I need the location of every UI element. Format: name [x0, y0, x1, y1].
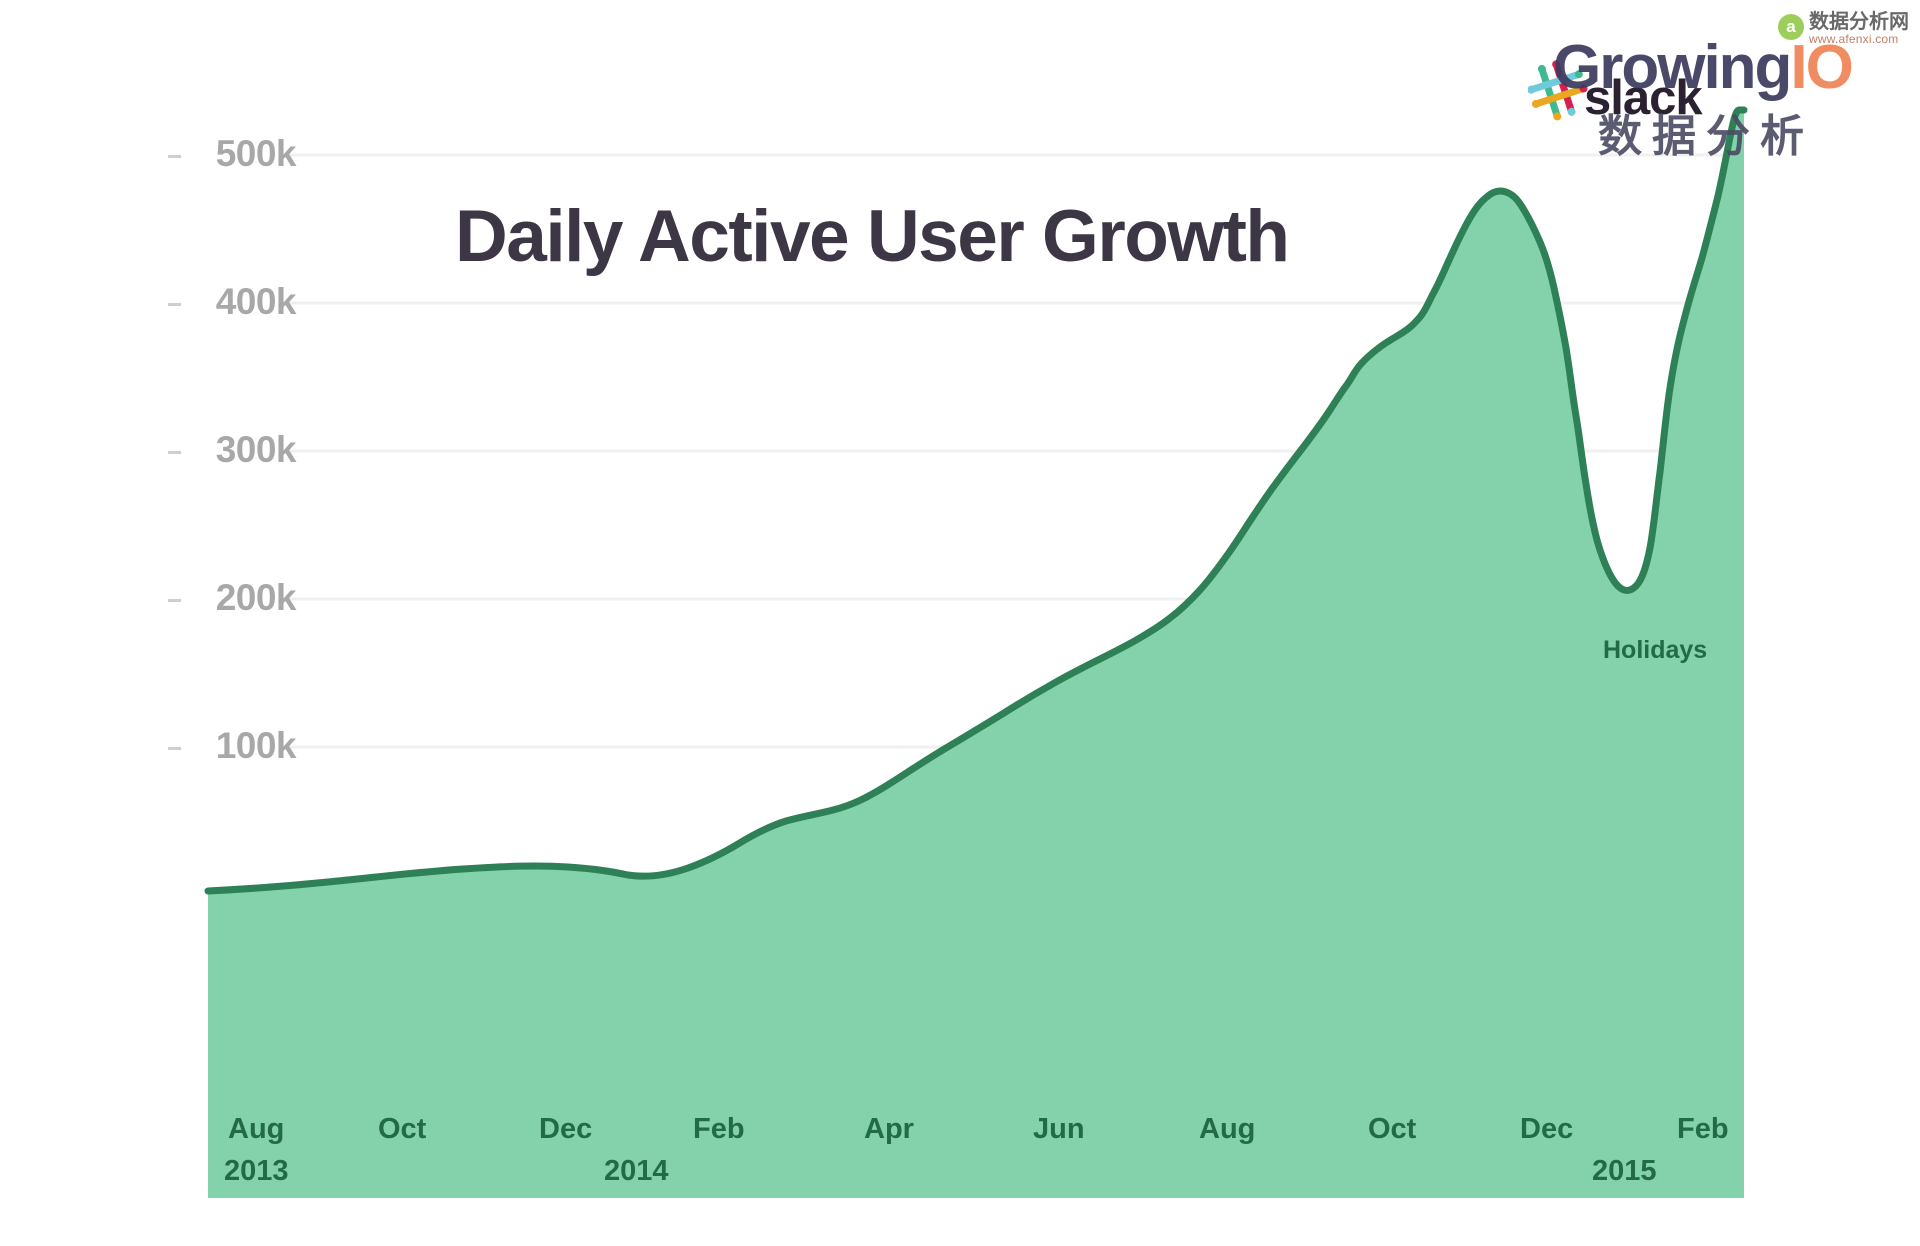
x-axis-label-oct-2014: Oct	[1368, 1113, 1416, 1146]
afenxi-name: 数据分析网	[1809, 12, 1909, 33]
x-axis-label-oct-2013: Oct	[378, 1113, 426, 1146]
x-axis-year-2013: 2013	[224, 1155, 289, 1188]
y-axis-label-200k: 200k	[186, 577, 296, 619]
x-axis-label-feb-2015: Feb	[1677, 1113, 1729, 1146]
chart-canvas: 500k 400k 300k 200k 100k Daily Active Us…	[0, 0, 1920, 1246]
y-tick-dash-100k	[168, 747, 181, 750]
y-axis-label-300k: 300k	[186, 429, 296, 471]
holidays-annotation: Holidays	[1603, 636, 1707, 665]
x-axis-label-jun-2014: Jun	[1033, 1113, 1085, 1146]
growingio-subtitle: 数据分析	[1598, 100, 1814, 164]
afenxi-url: www.afenxi.com	[1809, 33, 1909, 46]
growingio-word-growing: Growing	[1553, 33, 1790, 102]
y-tick-dash-500k	[168, 155, 181, 158]
afenxi-badge: a 数据分析网 www.afenxi.com	[1778, 12, 1909, 46]
y-tick-dash-400k	[168, 303, 181, 306]
y-axis-label-100k: 100k	[186, 725, 296, 767]
x-axis-label-aug-2013: Aug	[228, 1113, 284, 1146]
x-axis-year-2015: 2015	[1592, 1155, 1657, 1188]
afenxi-mark-icon: a	[1778, 14, 1804, 40]
x-axis-label-dec-2014: Dec	[1520, 1113, 1573, 1146]
y-axis-label-500k: 500k	[186, 133, 296, 175]
x-axis-year-2014: 2014	[604, 1155, 669, 1188]
x-axis-label-aug-2014: Aug	[1199, 1113, 1255, 1146]
x-axis-label-apr-2014: Apr	[864, 1113, 914, 1146]
y-tick-dash-200k	[168, 599, 181, 602]
x-axis-label-dec-2013: Dec	[539, 1113, 592, 1146]
chart-title: Daily Active User Growth	[455, 195, 1289, 278]
y-axis-label-400k: 400k	[186, 281, 296, 323]
y-tick-dash-300k	[168, 451, 181, 454]
afenxi-text-group: 数据分析网 www.afenxi.com	[1809, 12, 1909, 46]
x-axis-label-feb-2014: Feb	[693, 1113, 745, 1146]
